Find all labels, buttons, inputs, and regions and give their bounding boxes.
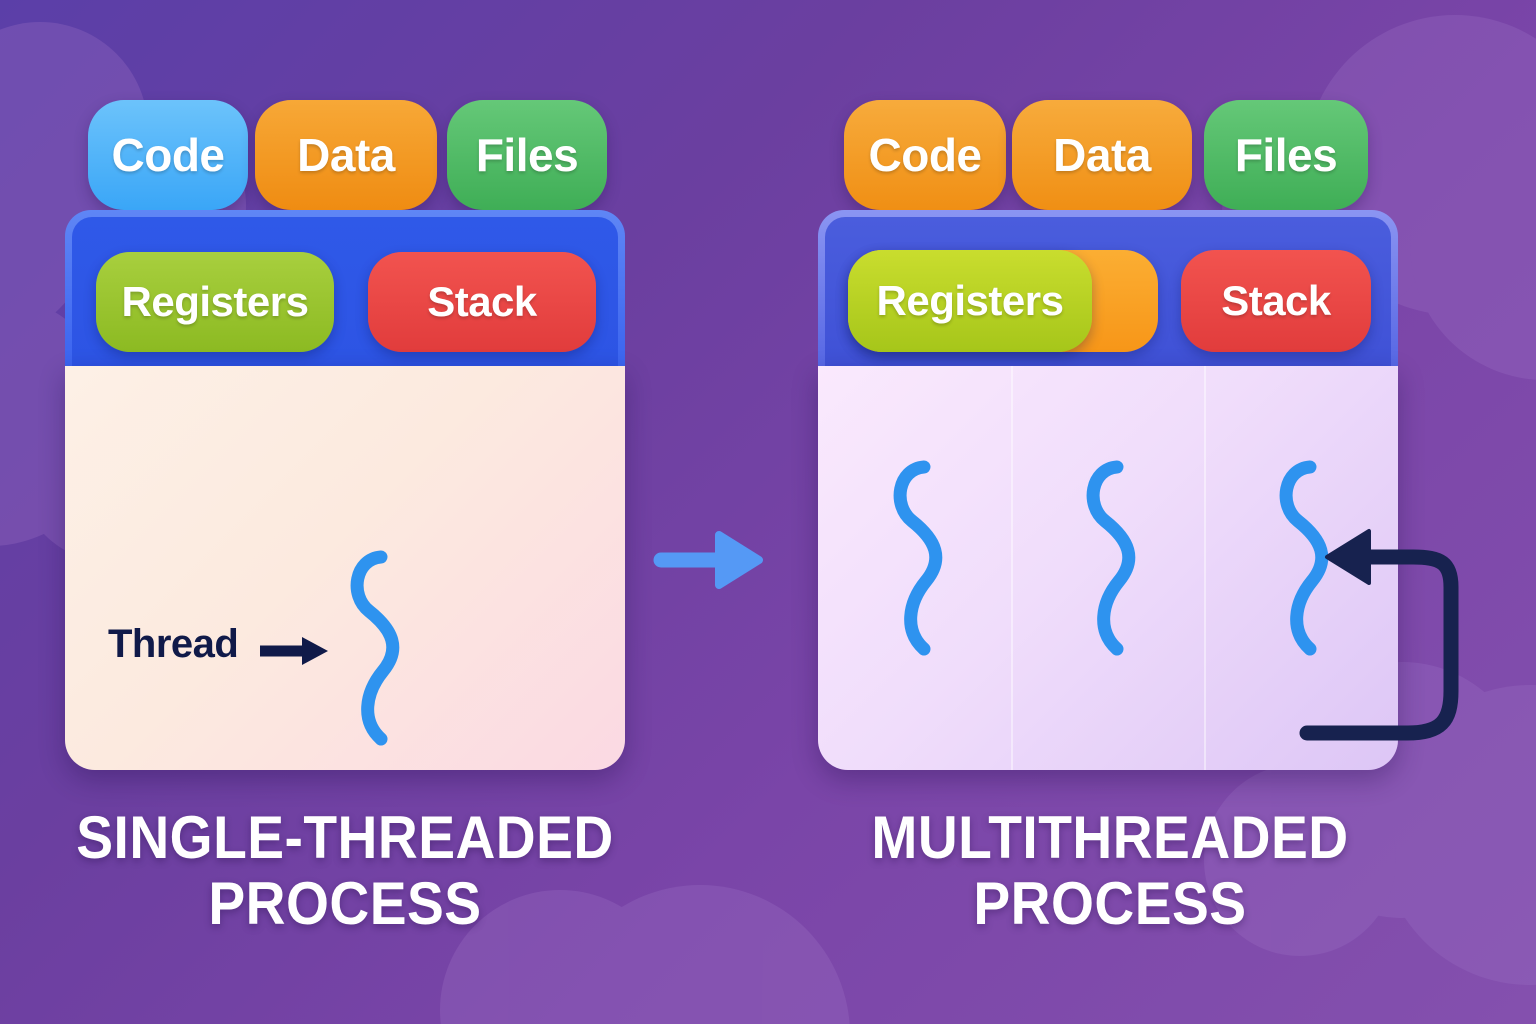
pill-data-right[interactable]: Data xyxy=(1012,100,1192,210)
thread-column-divider-2 xyxy=(1204,366,1206,770)
pill-registers-right[interactable]: Registers xyxy=(848,250,1092,352)
thread-callout-arrow-icon xyxy=(1295,525,1495,775)
diagram-canvas: Code Data Files Registers Stack Thread xyxy=(0,0,1536,1024)
pill-code[interactable]: Code xyxy=(88,100,248,210)
process-header-block: Registers Stack xyxy=(65,210,625,370)
thread-squiggle-1 xyxy=(335,551,415,746)
pill-data-right-label: Data xyxy=(1053,128,1151,182)
process-body: Thread xyxy=(65,366,625,770)
pill-registers-right-label: Registers xyxy=(877,277,1064,325)
pill-registers[interactable]: Registers xyxy=(96,252,334,352)
caption-single-threaded-line1: SINGLE-THREADED xyxy=(46,805,644,871)
thread-squiggle-right-1 xyxy=(878,461,958,656)
pill-data[interactable]: Data xyxy=(255,100,437,210)
pill-files-right[interactable]: Files xyxy=(1204,100,1368,210)
caption-multithreaded-line1: MULTITHREADED xyxy=(834,805,1386,871)
pill-files-label: Files xyxy=(476,128,578,182)
pill-stack-right-label: Stack xyxy=(1221,277,1331,325)
thread-pointer-arrow xyxy=(260,634,330,668)
pill-files-right-label: Files xyxy=(1235,128,1337,182)
pill-code-right[interactable]: Code xyxy=(844,100,1006,210)
caption-multithreaded: MULTITHREADED PROCESS xyxy=(834,805,1386,937)
caption-single-threaded: SINGLE-THREADED PROCESS xyxy=(46,805,644,937)
pill-stack-label: Stack xyxy=(427,278,537,326)
pill-data-label: Data xyxy=(297,128,395,182)
caption-multithreaded-line2: PROCESS xyxy=(834,871,1386,937)
thread-column-divider-1 xyxy=(1011,366,1013,770)
pill-code-label: Code xyxy=(112,128,225,182)
caption-single-threaded-line2: PROCESS xyxy=(46,871,644,937)
pill-stack-right[interactable]: Stack xyxy=(1181,250,1371,352)
process-header-block-right: Registers Stack xyxy=(818,210,1398,370)
pill-files[interactable]: Files xyxy=(447,100,607,210)
single-threaded-process-panel: Code Data Files Registers Stack Thread xyxy=(65,100,625,770)
pill-code-right-label: Code xyxy=(869,128,982,182)
thread-squiggle-right-2 xyxy=(1071,461,1151,656)
pill-stack[interactable]: Stack xyxy=(368,252,596,352)
thread-label: Thread xyxy=(108,622,238,667)
transition-arrow-icon xyxy=(655,529,765,591)
pill-registers-label: Registers xyxy=(122,278,309,326)
